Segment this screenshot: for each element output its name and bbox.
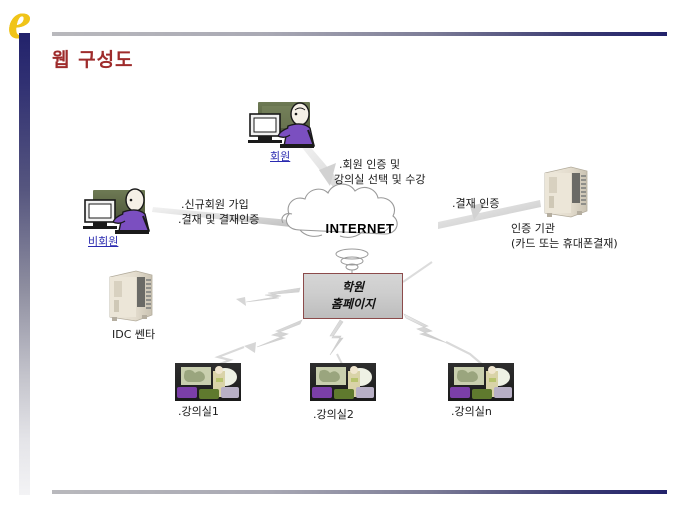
edge-label-member-line1: .회원 인증 및 <box>339 158 400 172</box>
node-label-cert-agency-note: (카드 또는 휴대폰결재) <box>511 237 618 251</box>
slide-canvas: e 웹 구성도 <box>0 0 680 510</box>
node-label-classroom-1: .강의실1 <box>178 405 219 419</box>
edge-label-nonmember-line2: .결재 및 결재인증 <box>178 213 259 227</box>
edge-label-nonmember-line1: .신규회원 가입 <box>181 198 249 212</box>
node-label-classroom-2: .강의실2 <box>313 408 354 422</box>
node-member-icon <box>248 102 314 148</box>
homepage-label-line1: 학원 <box>342 279 364 296</box>
edge-idc-to-homepage <box>168 288 300 322</box>
node-nonmember-icon <box>83 189 149 234</box>
homepage-label-line2: 홈페이지 <box>331 296 375 313</box>
node-cert-agency-icon <box>545 167 587 217</box>
edge-label-member-line2: 강의실 선택 및 수강 <box>334 173 425 187</box>
edge-homepage-to-classroomn <box>404 314 484 366</box>
internet-cloud-label: INTERNET <box>320 221 400 236</box>
edge-homepage-leader <box>403 262 432 282</box>
node-label-nonmember[interactable]: 비회원 <box>88 235 118 249</box>
node-classroom-1-icon <box>175 363 241 401</box>
node-idc-icon <box>110 271 152 321</box>
node-label-classroom-n: .강의실n <box>451 405 492 419</box>
node-label-cert-agency: 인증 기관 <box>511 222 555 236</box>
edge-internet-to-homepage <box>336 249 368 274</box>
node-classroom-n-icon <box>448 363 514 401</box>
node-label-member[interactable]: 회원 <box>270 150 290 164</box>
node-label-idc: IDC 쎈타 <box>112 328 155 342</box>
edge-label-payment: .결재 인증 <box>452 197 499 211</box>
node-classroom-2-icon <box>310 363 376 401</box>
diagram-svg <box>0 0 680 510</box>
node-academy-homepage[interactable]: 학원 홈페이지 <box>303 273 403 319</box>
